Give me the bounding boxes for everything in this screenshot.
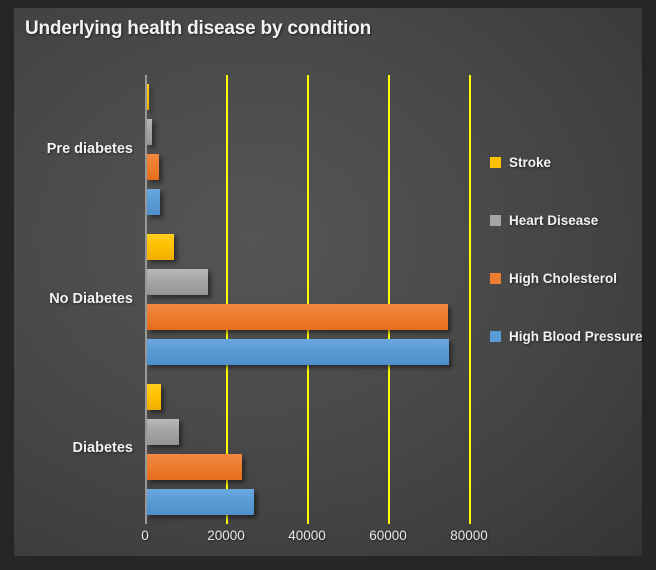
legend-swatch-icon [490,215,501,226]
legend-swatch-icon [490,331,501,342]
bar-heart-disease-diabetes [147,419,179,445]
x-tick-label-0: 0 [141,528,149,543]
legend-item-high-blood-pressure[interactable]: High Blood Pressure [490,329,643,344]
bar-heart-disease-no-diabetes [147,269,208,295]
chart-legend: StrokeHeart DiseaseHigh CholesterolHigh … [490,155,650,365]
legend-label: Stroke [509,155,551,170]
bar-high-cholesterol-no-diabetes [147,304,448,330]
bar-high-cholesterol-pre-diabetes [147,154,159,180]
legend-item-heart-disease[interactable]: Heart Disease [490,213,598,228]
chart-frame: Underlying health disease by condition P… [0,0,656,570]
legend-item-high-cholesterol[interactable]: High Cholesterol [490,271,617,286]
category-label-diabetes: Diabetes [73,440,133,456]
gridline-40000 [307,75,309,524]
legend-label: High Blood Pressure [509,329,643,344]
category-axis-labels: Pre diabetesNo DiabetesDiabetes [0,75,145,524]
bar-heart-disease-pre-diabetes [147,119,152,145]
bar-stroke-diabetes [147,384,161,410]
x-tick-label-20000: 20000 [207,528,245,543]
bar-high-blood-pressure-pre-diabetes [147,189,160,215]
plot-area [145,75,469,524]
bar-stroke-no-diabetes [147,234,174,260]
legend-swatch-icon [490,273,501,284]
legend-item-stroke[interactable]: Stroke [490,155,551,170]
category-label-no-diabetes: No Diabetes [49,291,133,307]
gridline-80000 [469,75,471,524]
category-label-pre-diabetes: Pre diabetes [47,141,133,157]
bar-high-blood-pressure-no-diabetes [147,339,449,365]
x-tick-label-60000: 60000 [369,528,407,543]
x-tick-label-40000: 40000 [288,528,326,543]
legend-swatch-icon [490,157,501,168]
legend-label: Heart Disease [509,213,598,228]
x-tick-label-80000: 80000 [450,528,488,543]
bar-stroke-pre-diabetes [147,84,149,110]
bar-high-blood-pressure-diabetes [147,489,254,515]
x-axis-tick-labels: 020000400006000080000 [145,528,485,552]
bar-high-cholesterol-diabetes [147,454,242,480]
legend-label: High Cholesterol [509,271,617,286]
gridline-60000 [388,75,390,524]
chart-title: Underlying health disease by condition [25,18,371,40]
